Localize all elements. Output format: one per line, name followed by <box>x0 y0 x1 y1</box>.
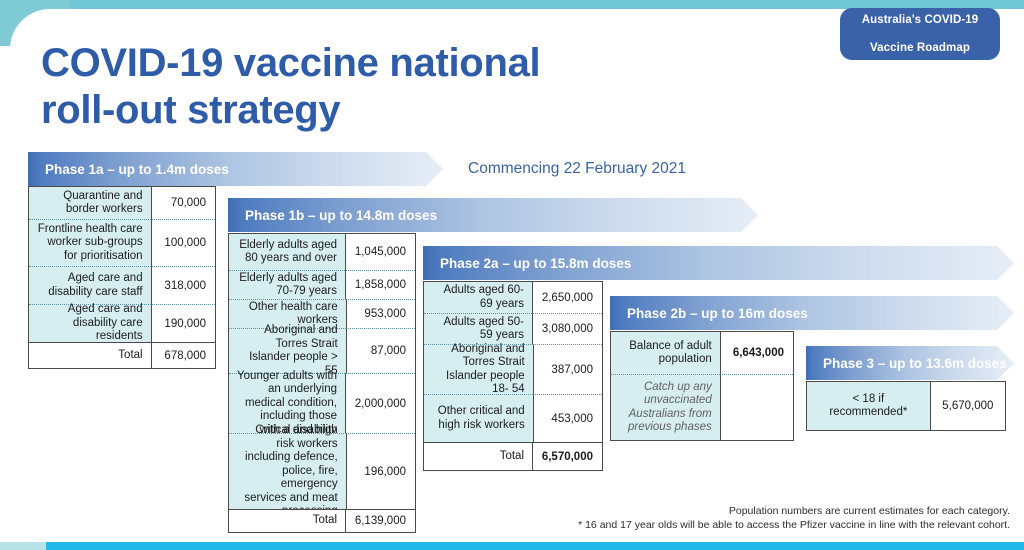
row-value: 453,000 <box>533 394 602 442</box>
row-value: 70,000 <box>151 187 215 219</box>
table-row: Aged care and disability care residents … <box>29 304 215 342</box>
table-row: Catch up any unvaccinated Australians fr… <box>611 374 793 440</box>
table-row: Adults aged 60-69 years 2,650,000 <box>424 282 602 313</box>
footnotes: Population numbers are current estimates… <box>578 504 1010 532</box>
row-value: 100,000 <box>151 219 215 266</box>
phase-banner-1a: Phase 1a – up to 1.4m doses <box>28 152 443 186</box>
page-title-line-2: roll-out strategy <box>41 87 661 134</box>
row-value: 953,000 <box>346 299 415 328</box>
bottom-decorative-band <box>0 542 1024 550</box>
row-label: Aboriginal and Torres Strait Islander pe… <box>229 328 346 373</box>
row-label: Critical and high risk workers including… <box>229 433 346 509</box>
row-value: 318,000 <box>151 266 215 304</box>
table-row: Quarantine and border workers 70,000 <box>29 187 215 219</box>
footnote-line-1: Population numbers are current estimates… <box>578 504 1010 518</box>
row-value: 87,000 <box>346 328 415 373</box>
table-row: Aged care and disability care staff 318,… <box>29 266 215 304</box>
table-row-total: Total 6,139,000 <box>229 509 415 532</box>
row-label: Elderly adults aged 70-79 years <box>229 270 345 299</box>
row-value: 1,045,000 <box>345 234 415 270</box>
total-label: Total <box>29 342 151 368</box>
slide-canvas: Australia's COVID-19 Vaccine Roadmap COV… <box>0 0 1024 550</box>
row-label: Quarantine and border workers <box>29 187 151 219</box>
row-value: 387,000 <box>533 344 602 394</box>
table-row: Aboriginal and Torres Strait Islander pe… <box>424 344 602 394</box>
row-label: Frontline health care worker sub-groups … <box>29 219 151 266</box>
table-row: Critical and high risk workers including… <box>229 433 415 509</box>
row-label: Adults aged 50-59 years <box>424 313 532 344</box>
footnote-line-2: * 16 and 17 year olds will be able to ac… <box>578 518 1010 532</box>
table-row: Adults aged 50-59 years 3,080,000 <box>424 313 602 344</box>
phase-banner-label-1a: Phase 1a – up to 1.4m doses <box>28 162 229 177</box>
row-value: 2,000,000 <box>345 373 415 433</box>
roadmap-badge: Australia's COVID-19 Vaccine Roadmap <box>840 8 1000 60</box>
row-value: 1,858,000 <box>345 270 415 299</box>
row-label: Aged care and disability care staff <box>29 266 151 304</box>
phase-banner-label-2b: Phase 2b – up to 16m doses <box>610 306 808 321</box>
row-label: Adults aged 60-69 years <box>424 282 532 313</box>
phase-banner-1b: Phase 1b – up to 14.8m doses <box>228 198 758 232</box>
row-label: Aboriginal and Torres Strait Islander pe… <box>424 344 533 394</box>
table-row-total: Total 678,000 <box>29 342 215 368</box>
row-value: 190,000 <box>151 304 215 342</box>
table-row-total: Total 6,570,000 <box>424 442 602 470</box>
phase-table-3: < 18 if recommended* 5,670,000 <box>806 381 1006 431</box>
phase-banner-label-1b: Phase 1b – up to 14.8m doses <box>228 208 437 223</box>
row-label: Catch up any unvaccinated Australians fr… <box>611 374 720 440</box>
page-title: COVID-19 vaccine national roll-out strat… <box>41 40 661 134</box>
row-value: 6,643,000 <box>720 332 793 374</box>
row-label: Elderly adults aged 80 years and over <box>229 234 345 270</box>
row-label: Balance of adult population <box>611 332 720 374</box>
total-value: 6,570,000 <box>532 442 602 470</box>
row-label: Other critical and high risk workers <box>424 394 533 442</box>
total-value: 678,000 <box>151 342 215 368</box>
phase-banner-3: Phase 3 – up to 13.6m doses <box>806 346 1014 380</box>
bottom-left-band-accent <box>0 542 46 550</box>
row-value: 196,000 <box>346 433 415 509</box>
table-row: Other critical and high risk workers 453… <box>424 394 602 442</box>
table-row: Aboriginal and Torres Strait Islander pe… <box>229 328 415 373</box>
phase-banner-2a: Phase 2a – up to 15.8m doses <box>423 246 1014 280</box>
row-value: 5,670,000 <box>930 382 1005 430</box>
row-label: Aged care and disability care residents <box>29 304 151 342</box>
page-title-line-1: COVID-19 vaccine national <box>41 40 661 87</box>
commencing-date-note: Commencing 22 February 2021 <box>468 160 686 178</box>
total-label: Total <box>424 442 532 470</box>
table-row: Frontline health care worker sub-groups … <box>29 219 215 266</box>
phase-banner-label-2a: Phase 2a – up to 15.8m doses <box>423 256 631 271</box>
table-row: Elderly adults aged 70-79 years 1,858,00… <box>229 270 415 299</box>
row-label: < 18 if recommended* <box>807 382 930 430</box>
row-value: 2,650,000 <box>532 282 602 313</box>
badge-line-2: Vaccine Roadmap <box>856 41 985 55</box>
total-value: 6,139,000 <box>345 509 415 532</box>
table-row: < 18 if recommended* 5,670,000 <box>807 382 1005 430</box>
phase-table-2b: Balance of adult population 6,643,000 Ca… <box>610 331 794 441</box>
table-row: Elderly adults aged 80 years and over 1,… <box>229 234 415 270</box>
row-value <box>720 374 793 440</box>
table-row: Balance of adult population 6,643,000 <box>611 332 793 374</box>
phase-table-1a: Quarantine and border workers 70,000 Fro… <box>28 186 216 369</box>
phase-banner-2b: Phase 2b – up to 16m doses <box>610 296 1014 330</box>
phase-table-1b: Elderly adults aged 80 years and over 1,… <box>228 233 416 533</box>
badge-line-1: Australia's COVID-19 <box>856 13 985 27</box>
phase-banner-label-3: Phase 3 – up to 13.6m doses <box>806 356 1007 371</box>
row-value: 3,080,000 <box>532 313 602 344</box>
phase-table-2a: Adults aged 60-69 years 2,650,000 Adults… <box>423 281 603 471</box>
total-label: Total <box>229 509 345 532</box>
